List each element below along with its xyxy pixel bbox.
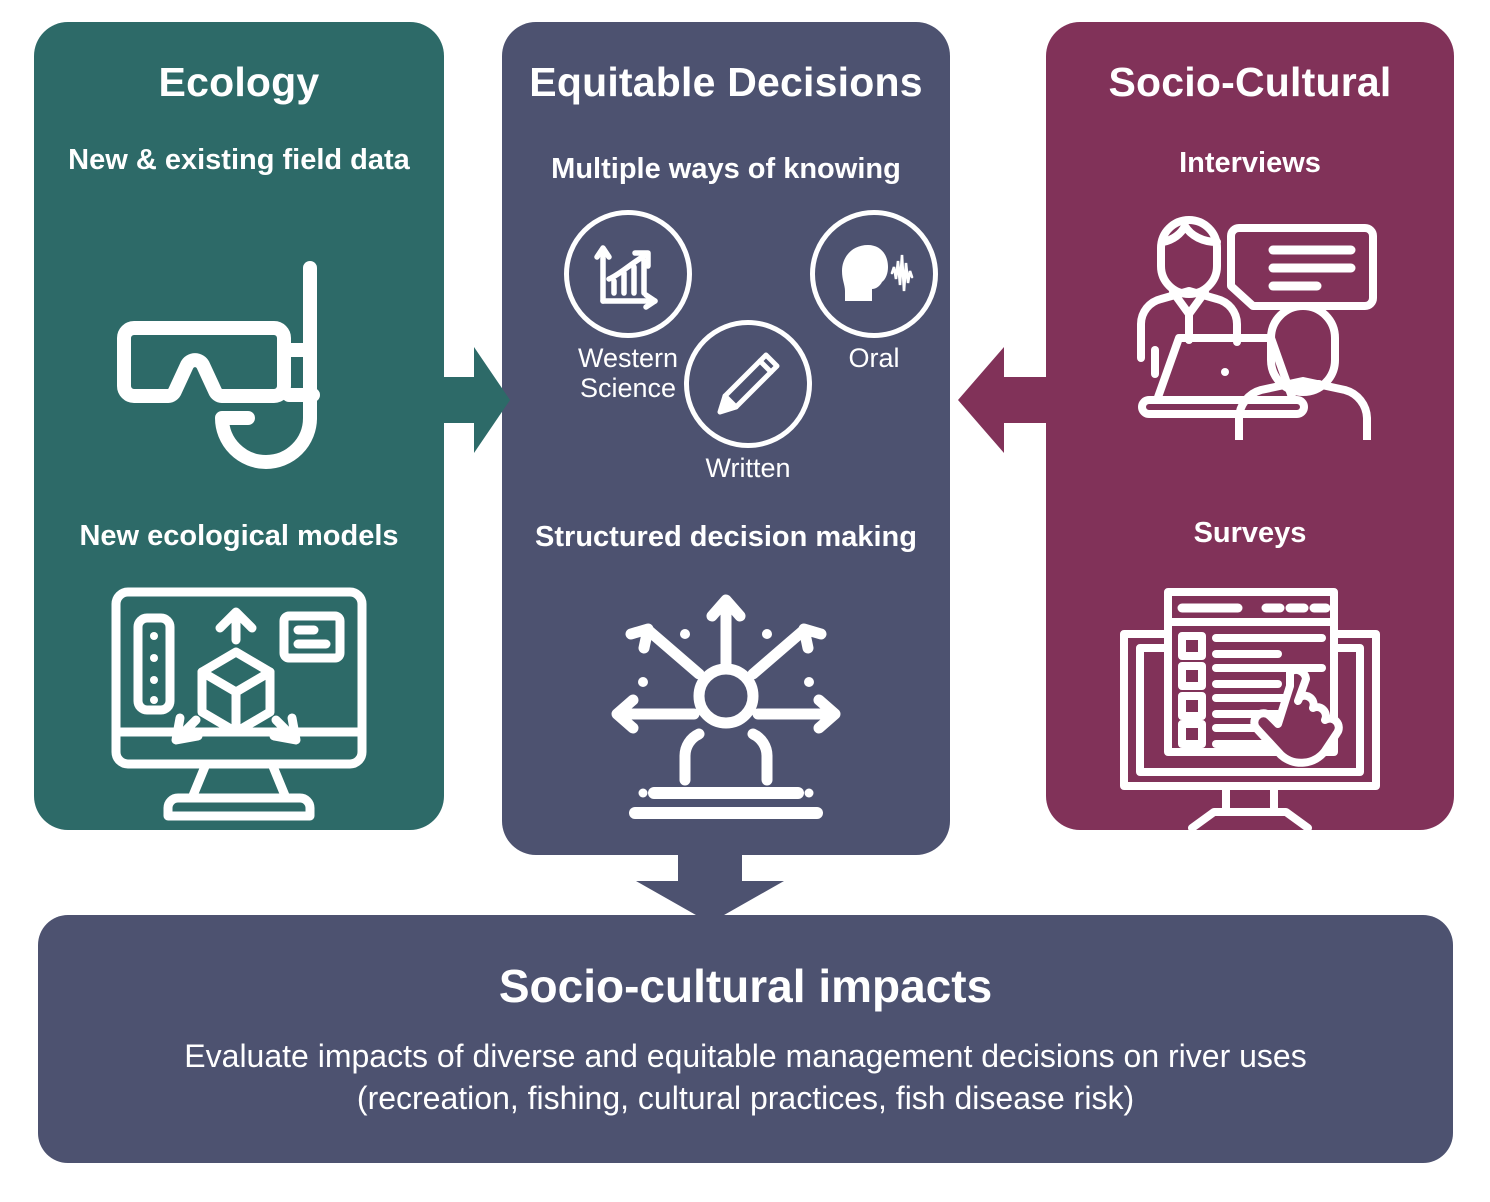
- western-science-circle: [564, 210, 692, 338]
- outcome-body: Evaluate impacts of diverse and equitabl…: [38, 1035, 1453, 1119]
- framework-diagram: Ecology New & existing field data New ec…: [0, 0, 1490, 1202]
- arrow-ecology-to-decisions: [430, 345, 510, 455]
- pencil-icon: [709, 345, 787, 423]
- oral-circle: [810, 210, 938, 338]
- person-multiple-directions-icon: [581, 574, 871, 829]
- panel-ecology-title: Ecology: [34, 62, 444, 103]
- panel-socio-cultural: Socio-Cultural Interviews: [1046, 22, 1454, 830]
- panel-ecology: Ecology New & existing field data New ec…: [34, 22, 444, 830]
- snorkel-mask-icon: [114, 250, 364, 480]
- computer-3d-model-icon: [104, 580, 374, 830]
- outcome-body-line1: Evaluate impacts of diverse and equitabl…: [98, 1035, 1393, 1077]
- speaking-head-icon: [832, 239, 916, 309]
- panel-socio-title: Socio-Cultural: [1046, 62, 1454, 103]
- ecology-item2-label: New ecological models: [34, 519, 444, 554]
- survey-monitor-checklist-icon: [1114, 578, 1386, 830]
- decisions-item1-label: Multiple ways of knowing: [502, 152, 950, 187]
- interview-people-laptop-icon: [1121, 210, 1379, 440]
- outcome-body-line2: (recreation, fishing, cultural practices…: [98, 1077, 1393, 1119]
- arrow-decisions-to-outcome: [620, 845, 800, 923]
- socio-item2-label: Surveys: [1046, 516, 1454, 551]
- outcome-title: Socio-cultural impacts: [38, 963, 1453, 1009]
- socio-item1-label: Interviews: [1046, 146, 1454, 181]
- panel-outcome: Socio-cultural impacts Evaluate impacts …: [38, 915, 1453, 1163]
- way-of-knowing-oral: Oral: [784, 210, 964, 374]
- panel-decisions-title: Equitable Decisions: [502, 62, 950, 103]
- decisions-item2-label: Structured decision making: [502, 520, 950, 555]
- arrow-socio-to-decisions: [958, 345, 1050, 455]
- oral-label: Oral: [784, 344, 964, 374]
- written-label: Written: [658, 454, 838, 484]
- panel-equitable-decisions: Equitable Decisions Multiple ways of kno…: [502, 22, 950, 855]
- ways-of-knowing-group: Western Science Written: [502, 210, 950, 510]
- ecology-item1-label: New & existing field data: [34, 143, 444, 178]
- bar-chart-growth-icon: [589, 235, 667, 313]
